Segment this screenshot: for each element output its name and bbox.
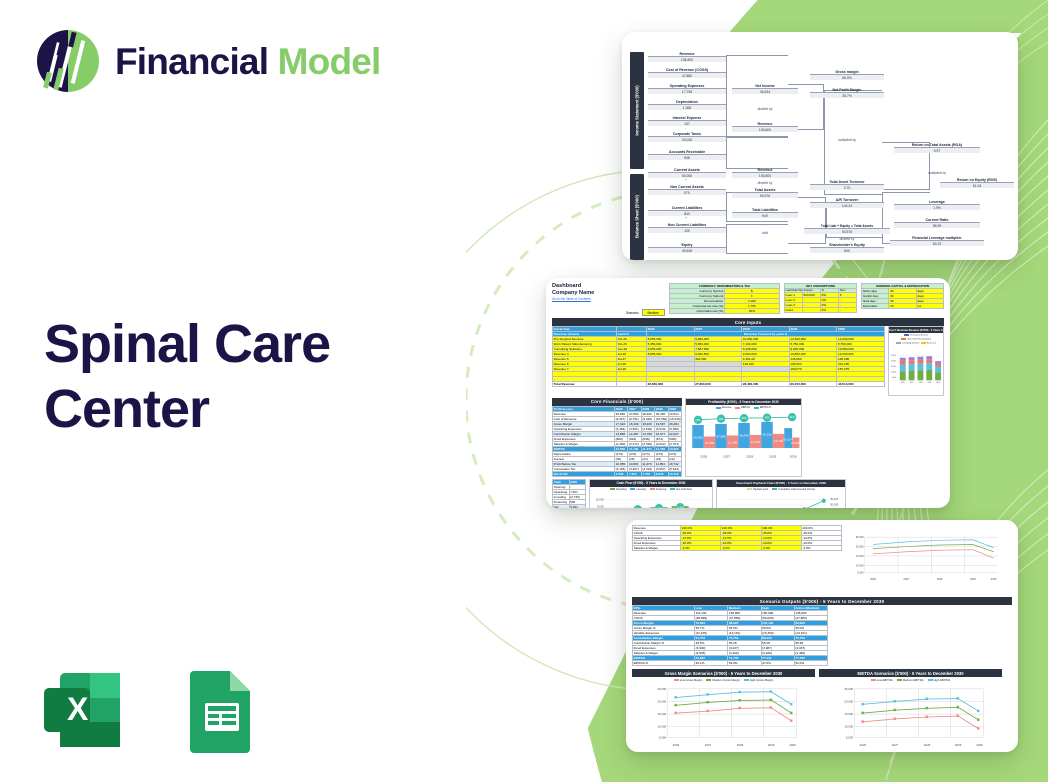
income-statement-band-label: Income Statement ($'000) [635, 82, 640, 138]
google-sheets-icon[interactable] [172, 663, 266, 757]
svg-text:28,400: 28,400 [739, 434, 749, 438]
total-cell: 43,514,000 [837, 381, 885, 386]
node-value: 50,576 [804, 229, 890, 234]
svg-text:20,000: 20,000 [856, 545, 864, 549]
currency-row-value[interactable]: 30% [724, 309, 779, 314]
core-inputs-table: Fiscal Year 2026 2027 2028 2029 2030 Rev… [552, 326, 885, 386]
node-value: 136,800 [732, 127, 798, 132]
node-current-assets: Current Assets 50,006 [648, 168, 726, 178]
svg-text:15,000: 15,000 [891, 366, 896, 368]
x-tick: 2026 [860, 743, 867, 747]
payback-line-chart: 35,00030,00025,000 20,00015,00010,000 5,… [717, 492, 845, 508]
x-tick: 2028 [924, 743, 931, 747]
ratio-tree: Income Statement ($'000) Balance Sheet (… [622, 32, 1018, 260]
y-tick: 15,000 [844, 712, 853, 716]
total-label: Total Revenue [553, 381, 617, 386]
brand-wordmark: Financial Model [115, 43, 381, 80]
cell: 52.0% [794, 661, 827, 666]
legend-item: Work Patient Manufacturing [901, 338, 930, 341]
node-value: 65.0% [810, 75, 884, 80]
dashboard-card[interactable]: Dashboard Company Name Go to the Table o… [546, 278, 950, 508]
dashboard-sheet: Dashboard Company Name Go to the Table o… [546, 278, 950, 508]
scenario-outputs-card[interactable]: Revenue100.0%100.0%100.0%100.0% COGS-35.… [626, 520, 1018, 752]
dashboard-header: Dashboard Company Name Go to the Table o… [552, 283, 665, 316]
node-roa: Return on Total Assets (ROA) 0.97 [894, 143, 980, 153]
svg-text:5,000: 5,000 [892, 376, 896, 378]
chart-title: Gross Margin Scenarios ($'000) - 5 Years… [632, 669, 815, 677]
top-revenue-streams-chart[interactable]: Top 5 Revenue Streams ($'000) - 5 Years … [888, 326, 944, 395]
y-tick: 20,000 [657, 699, 666, 703]
gross-margin-line-chart: 25,000 20,000 15,000 10,000 5,000 [632, 683, 815, 751]
scenario-trend-minichart: 25,00020,00015,00010,0005,000 20262027 2… [846, 525, 1002, 591]
cell: -3.0% [801, 546, 841, 551]
svg-text:25,000: 25,000 [856, 535, 864, 539]
node-opex: Operating Expenses 17,758 [648, 84, 726, 94]
legend-item: Low Gross Margin [674, 678, 703, 682]
legend-item: Medium Gross Margin [706, 678, 740, 682]
svg-text:19,025: 19,025 [791, 441, 801, 445]
node-current-liabilities: Current Liabilities 840 [648, 206, 726, 216]
scenario-outputs-title: Scenario Outputs ($'000) - 5 Years to De… [632, 597, 1012, 605]
balance-sheet-band: Balance Sheet ($'000) [630, 174, 644, 260]
slide-canvas: Financial Model Spinal Care Center X [0, 0, 1048, 782]
node-value: 58.99 [894, 223, 980, 228]
plus-sign: - [685, 110, 686, 114]
svg-text:25,000: 25,000 [830, 507, 839, 508]
node-value: 46,634 [732, 89, 798, 94]
y-tick: 10,000 [657, 725, 666, 729]
stacked-bar-chart: 25,00020,00015,000 10,0005,000 20262027 [889, 346, 943, 390]
dashboard-title-line2: Company Name [552, 290, 665, 297]
cell[interactable]: -3.0% [681, 546, 721, 551]
node-value: 35.7% [810, 93, 884, 98]
profitability-chart[interactable]: Profitability ($'000) - 5 Years to Decem… [685, 398, 802, 477]
x-tick: 2028 [737, 743, 744, 747]
scenario-outputs-table: KPIs Low Medium High Active (Medium) Rev… [632, 605, 828, 666]
node-gross-margin: Gross margin 65.0% [810, 70, 884, 80]
node-value: 137 [648, 121, 726, 126]
svg-text:27,860: 27,860 [716, 435, 726, 439]
legend-item: Consulting Solutions [896, 342, 919, 345]
svg-text:40%: 40% [741, 417, 747, 421]
chart-title: Cash Flow ($'000) - 5 Years to December … [590, 480, 712, 487]
cell: 47.0% [761, 661, 794, 666]
node-revenue-bs: Revenue 136,800 [732, 168, 798, 178]
row-label: Salaries & Wages [633, 546, 681, 551]
legend-item: Financing [650, 488, 666, 491]
svg-text:40%: 40% [695, 418, 701, 422]
x-tick: 2026 [673, 743, 680, 747]
legend-item: Payback point [747, 488, 768, 491]
svg-text:10,000: 10,000 [891, 371, 896, 373]
node-corporate-taxes: Corporate Taxes 20,026 [648, 132, 726, 142]
operator-divided-by: divided by [732, 181, 798, 185]
brand-name-part2: Model [278, 41, 381, 82]
x-tick: 2030 [976, 743, 983, 747]
cell[interactable]: -3.0% [721, 546, 761, 551]
chart-title: Investment Payback Chart ($'000) - 5 Yea… [717, 480, 845, 487]
y-tick: 5,000 [659, 735, 667, 739]
x-tick: 2026 [700, 455, 707, 459]
total-cell: 30,150,000 [789, 381, 837, 386]
x-tick: 2029 [768, 743, 775, 747]
cash-flow-bar-chart: 10,0008,0006,000 4,0002,000(2,000) [590, 492, 712, 508]
node-interest-expense: Interest Expense 137 [648, 116, 726, 126]
legend-item: Net Cash Flow [670, 488, 692, 491]
node-non-current-liabilities: Non Current Liabilities 109 [648, 223, 726, 233]
x-tick: 2029 [927, 382, 931, 384]
operator-multiplied-by: multiplied by [894, 171, 980, 175]
ebitda-line-chart: 25,000 20,000 15,000 10,000 5,000 [819, 683, 1002, 751]
total-cell: 26,650,000 [647, 381, 695, 386]
svg-text:25,000: 25,000 [891, 355, 896, 357]
node-shareholders-equity: Shareholder's Equity 800 [810, 243, 884, 253]
table-of-contents-link[interactable]: Go to the Table of Contents [552, 297, 665, 301]
node-value: 800 [810, 248, 884, 253]
top-right-mini-chart: 25,00020,00015,00010,0005,000 20262027 2… [846, 525, 1002, 596]
cell: 52.0% [728, 661, 761, 666]
y-tick: 5,000 [846, 735, 854, 739]
financial-ratio-tree-card[interactable]: Income Statement ($'000) Balance Sheet (… [622, 32, 1018, 260]
svg-text:44%: 44% [789, 416, 795, 420]
x-tick: 2027 [903, 577, 909, 581]
node-ar-turnover: A/R Turnover 144.24 [810, 198, 884, 208]
x-tick: 2028 [746, 455, 753, 459]
x-tick: 2026 [901, 382, 905, 384]
node-net-profit-margin: Net Profit Margin 35.7% [810, 88, 884, 98]
node-total-asset-turnover: Total Asset Turnover 2.70 [810, 180, 884, 190]
legend-item: Revenue [716, 406, 732, 409]
node-value: 136,800 [648, 57, 726, 62]
microsoft-excel-icon[interactable]: X [35, 663, 129, 757]
legend-item: Cumulative Cash Invested (Gross) [772, 488, 815, 491]
legend-item: Operating [610, 488, 627, 491]
total-cell: 27,860,000 [694, 381, 742, 386]
node-value: 20,026 [648, 137, 726, 142]
plus-sign: - [685, 78, 686, 82]
operator-divided-by: divided by [732, 107, 798, 111]
cell[interactable]: -3.0% [761, 546, 801, 551]
connector [726, 224, 788, 254]
node-value: 840 [648, 211, 726, 216]
plus-sign: - [685, 94, 686, 98]
svg-text:35,000: 35,000 [830, 497, 839, 501]
node-roe: Return on Equity (ROE) 61.03 [940, 178, 1014, 188]
legend-item: Medium EBITDA [897, 678, 924, 682]
svg-text:12,180: 12,180 [774, 440, 784, 444]
x-tick: 2029 [970, 577, 976, 581]
svg-text:40%: 40% [718, 417, 724, 421]
legend-item: Investing [630, 488, 646, 491]
plus-sign: - [685, 62, 686, 66]
node-value: 1,365 [648, 105, 726, 110]
investment-payback-chart[interactable]: Investment Payback Chart ($'000) - 5 Yea… [716, 479, 846, 508]
node-leverage: Leverage 1.9% [894, 200, 980, 210]
node-value: 570 [648, 190, 726, 195]
node-value: 50,006 [648, 173, 726, 178]
node-value: 949 [732, 213, 798, 218]
legend-item: EBITDA [735, 406, 750, 409]
node-financial-leverage-multiplier: Financial Leverage multiplier 63.22 [890, 236, 984, 246]
plus-sign: - [685, 126, 686, 130]
profitability-combo-chart: 26,65010,658 27,86011,190 28,40011,373 3… [686, 410, 801, 463]
gross-margin-scenarios-chart[interactable]: Gross Margin Scenarios ($'000) - 5 Years… [632, 669, 815, 752]
core-inputs-title: Core Inputs [552, 318, 944, 326]
balance-sheet-band-label: Balance Sheet ($'000) [635, 193, 640, 241]
svg-text:5,000: 5,000 [857, 571, 864, 575]
node-total-liabilities: Total Liabilities 949 [732, 208, 798, 218]
x-tick: 2027 [705, 743, 712, 747]
svg-text:X: X [67, 691, 89, 727]
node-depreciation: Depreciation 1,365 [648, 100, 726, 110]
x-tick: 2026 [870, 577, 876, 581]
cash-flow-chart[interactable]: Cash Flow ($'000) - 5 Years to December … [589, 479, 713, 508]
node-value: 61.03 [940, 183, 1014, 188]
legend-item: High EBITDA [928, 678, 951, 682]
x-tick: 2027 [892, 743, 899, 747]
core-financials-title: Core Financials ($'000) [552, 398, 682, 406]
chart-title: EBITDA Scenarios ($'000) - 5 Years to De… [819, 669, 1002, 677]
currency-row-label: Corporation tax (%) [669, 309, 724, 314]
svg-text:11,190: 11,190 [728, 441, 738, 445]
y-tick: 20,000 [844, 699, 853, 703]
legend-item: EBITDA % [754, 406, 771, 409]
y-tick: 15,000 [657, 712, 666, 716]
svg-text:20,000: 20,000 [891, 360, 896, 362]
operator-add: Add [732, 231, 798, 235]
node-value: 948 [648, 155, 726, 160]
row-label: EBITDA % [633, 661, 695, 666]
node-value: 63.22 [890, 241, 984, 246]
svg-text:26,650: 26,650 [693, 436, 703, 440]
plus-sign: + [685, 178, 687, 182]
brand-name-part1: Financial [115, 41, 278, 82]
svg-text:10,000: 10,000 [596, 497, 605, 501]
node-value: 49,628 [648, 248, 726, 253]
svg-text:15,000: 15,000 [856, 554, 864, 558]
ebitda-scenarios-chart[interactable]: EBITDA Scenarios ($'000) - 5 Years to De… [819, 669, 1002, 752]
x-tick: 2029 [769, 455, 776, 459]
connector [726, 137, 788, 169]
working-capital-panel: WORKING CAPITAL & DEPRECIATION Debtor da… [861, 283, 944, 309]
node-value: 144.24 [810, 203, 884, 208]
total-cell: 28,400,000 [742, 381, 790, 386]
node-value: 0.97 [894, 148, 980, 153]
node-net-income: Net Income 46,634 [732, 84, 798, 94]
x-tick: 2028 [919, 382, 923, 384]
x-tick: 2030 [789, 743, 796, 747]
svg-text:30,150: 30,150 [762, 433, 772, 437]
x-tick: 2030 [790, 455, 797, 459]
scenario-assumption-table: Revenue100.0%100.0%100.0%100.0% COGS-35.… [632, 525, 842, 551]
node-value: 50,576 [732, 193, 798, 198]
node-value: 47,880 [648, 73, 726, 78]
y-tick: 10,000 [844, 725, 853, 729]
key-assumptions-panel: KEY ASSUMPTIONS Loan/Grant NameAmount%Te… [784, 283, 857, 313]
node-revenue-mid: Revenue 136,800 [732, 122, 798, 132]
node-revenue: Revenue 136,800 [648, 52, 726, 62]
x-tick: 2028 [937, 577, 943, 581]
circle-bar-chart-logo-icon [35, 28, 101, 94]
node-non-current-assets: Non Current Assets 570 [648, 185, 726, 195]
legend-item: Pre-Surgical Services [904, 334, 928, 337]
node-current-ratio: Current Ratio 58.99 [894, 218, 980, 228]
svg-text:11,373: 11,373 [751, 440, 761, 444]
svg-text:40%: 40% [764, 416, 770, 420]
node-value: 109 [648, 228, 726, 233]
x-tick: 2027 [723, 455, 730, 459]
x-tick: 2029 [955, 743, 962, 747]
currency-panel: CURRENCY, DENOMINATION & TAX Currency Sy… [669, 283, 780, 314]
node-value: 1.9% [894, 205, 980, 210]
page-title: Spinal Care Center [44, 312, 444, 442]
x-tick: 2030 [936, 382, 940, 384]
node-total-assets: Total Assets 50,576 [732, 188, 798, 198]
node-total-liab-equity: Total Liab + Equity = Total Assets 50,57… [804, 224, 890, 234]
legend-item: Revenue 4 [921, 342, 936, 345]
income-statement-band: Income Statement ($'000) [630, 52, 644, 169]
svg-text:10,658: 10,658 [705, 441, 715, 445]
operator-multiplied-by: multiplied by [810, 138, 884, 142]
scenario-label: Scenario [626, 311, 639, 315]
svg-text:8,000: 8,000 [597, 504, 604, 508]
chart-title: Profitability ($'000) - 5 Years to Decem… [686, 399, 801, 406]
x-tick: 2027 [910, 382, 914, 384]
node-value: 2.70 [810, 185, 884, 190]
scenario-sheet: Revenue100.0%100.0%100.0%100.0% COGS-35.… [626, 520, 1018, 752]
node-accounts-receivable: Accounts Receivable 948 [648, 150, 726, 160]
y-tick: 25,000 [657, 687, 666, 691]
node-value: 17,758 [648, 89, 726, 94]
node-equity: Equity 49,628 [648, 243, 726, 253]
dashboard-title-line1: Dashboard [552, 283, 665, 290]
node-value: 136,800 [732, 173, 798, 178]
svg-text:10,000: 10,000 [856, 563, 864, 567]
svg-text:30,000: 30,000 [830, 502, 839, 506]
brand-logo: Financial Model [35, 28, 381, 94]
cell: 46.1% [695, 661, 728, 666]
plus-sign: + [685, 216, 687, 220]
legend-item: High Gross Margin [744, 678, 773, 682]
scenario-select[interactable]: Medium [642, 309, 665, 316]
node-cogs: Cost of Revenue (COGS) 47,880 [648, 68, 726, 78]
legend-item: Low EBITDA [871, 678, 893, 682]
operator-divided-by: divided by [810, 237, 884, 241]
y-tick: 25,000 [844, 687, 853, 691]
x-tick: 2030 [991, 577, 997, 581]
file-format-icons: X [35, 663, 266, 757]
